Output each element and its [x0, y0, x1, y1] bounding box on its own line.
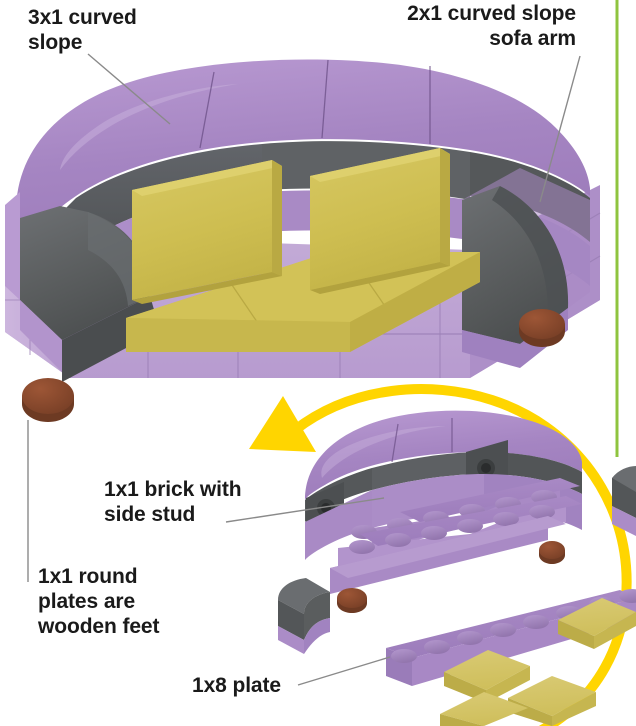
part-2x1-curved-slope-gray	[278, 578, 330, 654]
callout-3x1-curved-slope: 3x1 curved slope	[28, 6, 137, 56]
callout-1x8-plate: 1x8 plate	[192, 674, 281, 699]
callout-1x1-round-plates-are-wooden-feet: 1x1 round plates are wooden feet	[38, 565, 159, 639]
lego-sofa-rear-view	[305, 411, 582, 613]
leader-line-1x8-plate	[298, 657, 390, 685]
lego-sofa-assembled	[5, 59, 600, 422]
callout-2x1-curved-slope-sofa-arm: 2x1 curved slope sofa arm	[372, 2, 576, 52]
diagram-canvas: 3x1 curved slope 2x1 curved slope sofa a…	[0, 0, 636, 726]
callout-1x1-brick-with-side-stud: 1x1 brick with side stud	[104, 478, 242, 528]
part-2x1-curved-slope-gray-right	[612, 466, 636, 536]
